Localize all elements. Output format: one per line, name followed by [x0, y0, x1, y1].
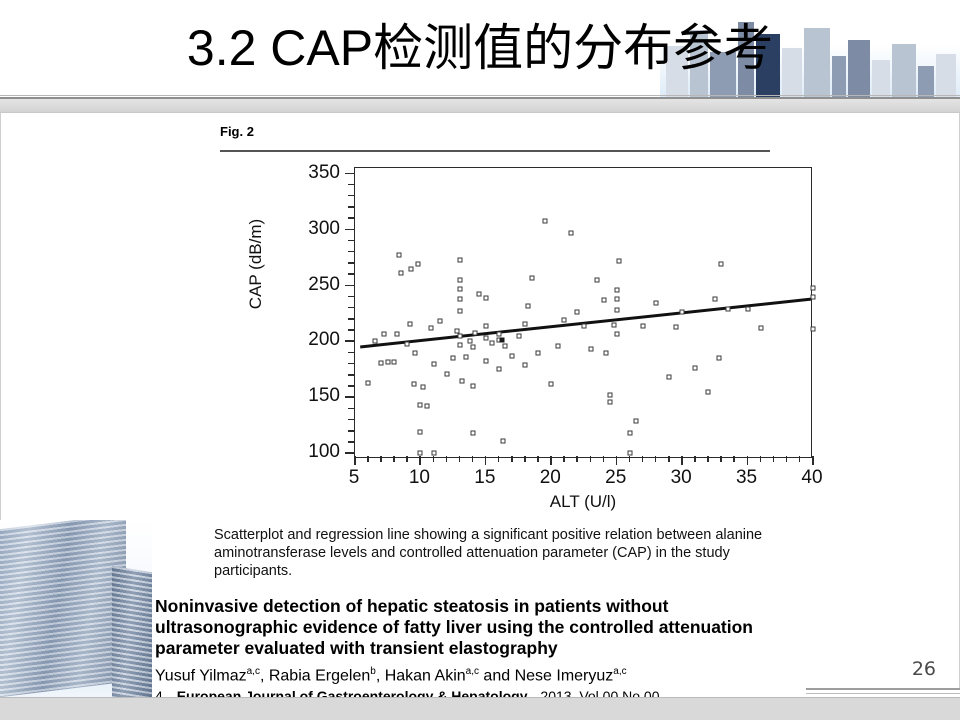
x-tick-minor — [733, 456, 735, 462]
scatter-point — [409, 266, 414, 271]
divider-band — [0, 99, 960, 113]
x-tick-label: 20 — [540, 467, 561, 489]
scatter-point — [490, 340, 495, 345]
x-tick-major — [485, 456, 487, 465]
scatter-point — [381, 331, 386, 336]
x-tick-minor — [472, 456, 474, 462]
scatter-point — [612, 322, 617, 327]
author-name: Yusuf Yilmaz — [155, 667, 247, 684]
scatter-point — [549, 382, 554, 387]
bottom-band-line — [0, 697, 960, 698]
x-tick-label: 30 — [671, 467, 692, 489]
scatter-point — [473, 330, 478, 335]
x-tick-minor — [694, 456, 696, 462]
figure-rule — [220, 150, 770, 152]
scatter-point — [608, 393, 613, 398]
y-tick-major — [345, 285, 354, 287]
scatter-point — [608, 399, 613, 404]
regression-line — [355, 168, 811, 457]
y-tick-label: 100 — [308, 441, 340, 463]
scatter-point — [582, 323, 587, 328]
scatter-point — [536, 350, 541, 355]
scatter-point — [464, 355, 469, 360]
x-tick-minor — [446, 456, 448, 462]
scatter-point — [719, 262, 724, 267]
x-tick-label: 40 — [801, 467, 822, 489]
scatter-point — [640, 323, 645, 328]
scatter-point — [614, 296, 619, 301]
scatter-point — [477, 292, 482, 297]
scatter-point — [421, 385, 426, 390]
x-tick-major — [419, 456, 421, 465]
scatter-point — [415, 262, 420, 267]
x-tick-minor — [380, 456, 382, 462]
scatter-point — [496, 367, 501, 372]
scatter-point — [457, 296, 462, 301]
x-tick-major — [616, 456, 618, 465]
scatter-point — [555, 343, 560, 348]
y-tick-label: 200 — [308, 329, 340, 351]
scatter-point — [460, 378, 465, 383]
scatter-point — [411, 382, 416, 387]
scatter-point — [529, 275, 534, 280]
x-tick-minor — [786, 456, 788, 462]
scatter-point — [457, 333, 462, 338]
scatter-point — [542, 218, 547, 223]
scatter-point — [745, 307, 750, 312]
y-tick-label: 350 — [308, 162, 340, 184]
scatter-point — [428, 326, 433, 331]
divider-line-top — [0, 95, 960, 96]
scatter-point — [614, 287, 619, 292]
x-tick-minor — [773, 456, 775, 462]
x-tick-minor — [799, 456, 801, 462]
scatter-point — [617, 258, 622, 263]
x-tick-minor — [524, 456, 526, 462]
x-tick-minor — [655, 456, 657, 462]
x-tick-minor — [537, 456, 539, 462]
slide: 3.2 CAP检测值的分布参考 Fig. 2 CAP (dB/m) 100150… — [0, 0, 960, 720]
x-tick-minor — [590, 456, 592, 462]
scatter-point — [470, 384, 475, 389]
y-tick-label: 150 — [308, 385, 340, 407]
scatter-point — [431, 361, 436, 366]
x-tick-minor — [576, 456, 578, 462]
building-sky — [0, 520, 176, 720]
x-tick-minor — [720, 456, 722, 462]
slide-number: 26 — [912, 658, 936, 680]
scatter-point — [523, 321, 528, 326]
scatter-point — [483, 358, 488, 363]
building-main-tower — [0, 520, 126, 698]
scatter-point — [706, 389, 711, 394]
footer-rule-lower — [806, 693, 960, 694]
scatter-point — [568, 230, 573, 235]
scatter-point — [604, 350, 609, 355]
scatter-point — [614, 331, 619, 336]
scatter-point — [444, 371, 449, 376]
bottom-band — [0, 697, 960, 720]
x-axis-label: ALT (U/l) — [354, 492, 812, 512]
scatter-point — [680, 310, 685, 315]
x-tick-label: 25 — [605, 467, 626, 489]
building-side-tower — [112, 566, 156, 713]
scatter-point — [667, 375, 672, 380]
building-decoration-image — [0, 520, 176, 720]
scatter-point — [595, 277, 600, 282]
scatter-point — [457, 309, 462, 314]
scatter-point — [372, 339, 377, 344]
y-axis-label: CAP (dB/m) — [246, 164, 266, 364]
y-tick-label: 250 — [308, 274, 340, 296]
scatter-point — [562, 318, 567, 323]
y-tick-major — [345, 452, 354, 454]
author-affiliation-marker: a,c — [247, 666, 260, 677]
scatter-point — [483, 323, 488, 328]
scatter-point — [379, 360, 384, 365]
scatter-point — [510, 354, 515, 359]
scatter-point — [614, 308, 619, 313]
slide-title: 3.2 CAP检测值的分布参考 — [0, 10, 960, 86]
x-axis-ticks: 510152025303540 — [354, 456, 812, 490]
x-tick-minor — [707, 456, 709, 462]
scatter-chart: CAP (dB/m) 100150200250300350 5101520253… — [214, 162, 814, 532]
article-authors: Yusuf Yilmaza,c, Rabia Ergelenb, Hakan A… — [155, 662, 805, 685]
x-tick-minor — [629, 456, 631, 462]
scatter-point — [716, 356, 721, 361]
header-divider — [0, 95, 960, 113]
x-tick-minor — [367, 456, 369, 462]
article-page: Fig. 2 CAP (dB/m) 100150200250300350 510… — [152, 118, 808, 700]
plot-area — [354, 167, 812, 458]
scatter-point — [634, 418, 639, 423]
scatter-point — [575, 310, 580, 315]
x-tick-major — [681, 456, 683, 465]
scatter-point — [418, 430, 423, 435]
author-affiliation-marker: a,c — [466, 666, 479, 677]
x-tick-major — [747, 456, 749, 465]
x-tick-minor — [603, 456, 605, 462]
x-tick-label: 35 — [736, 467, 757, 489]
scatter-point — [385, 359, 390, 364]
scatter-point — [483, 336, 488, 341]
y-tick-label: 300 — [308, 218, 340, 240]
scatter-point — [496, 331, 501, 336]
x-tick-label: 15 — [474, 467, 495, 489]
x-tick-major — [812, 456, 814, 465]
scatter-point — [405, 341, 410, 346]
scatter-point — [653, 301, 658, 306]
scatter-point — [673, 324, 678, 329]
scatter-point — [457, 277, 462, 282]
x-tick-label: 5 — [349, 467, 360, 489]
scatter-point — [438, 319, 443, 324]
scatter-point — [457, 286, 462, 291]
x-tick-minor — [459, 456, 461, 462]
y-tick-major — [345, 340, 354, 342]
figure-caption: Scatterplot and regression line showing … — [214, 526, 774, 580]
scatter-point — [483, 295, 488, 300]
author-name: Hakan Akin — [385, 667, 466, 684]
scatter-point — [500, 439, 505, 444]
scatter-point — [523, 362, 528, 367]
scatter-point — [811, 294, 816, 299]
scatter-point — [811, 285, 816, 290]
divider-line-bottom — [0, 112, 960, 113]
scatter-point-highlighted — [499, 338, 504, 343]
y-tick-major — [345, 229, 354, 231]
scatter-point — [503, 343, 508, 348]
x-tick-major — [354, 456, 356, 465]
scatter-point — [601, 298, 606, 303]
scatter-point — [525, 303, 530, 308]
scatter-point — [712, 296, 717, 301]
x-tick-minor — [642, 456, 644, 462]
scatter-point — [758, 326, 763, 331]
figure-label: Fig. 2 — [220, 124, 254, 139]
x-tick-minor — [433, 456, 435, 462]
scatter-point — [394, 331, 399, 336]
scatter-point — [398, 271, 403, 276]
x-tick-minor — [406, 456, 408, 462]
x-tick-minor — [511, 456, 513, 462]
page-edge-left — [0, 113, 1, 688]
scatter-point — [470, 345, 475, 350]
y-tick-major — [345, 396, 354, 398]
article-title: Noninvasive detection of hepatic steatos… — [155, 596, 805, 659]
y-tick-major — [345, 173, 354, 175]
scatter-point — [413, 350, 418, 355]
scatter-point — [392, 359, 397, 364]
x-tick-major — [550, 456, 552, 465]
x-tick-minor — [668, 456, 670, 462]
x-tick-minor — [563, 456, 565, 462]
footer-rule-upper — [806, 688, 960, 690]
scatter-point — [693, 366, 698, 371]
x-tick-minor — [498, 456, 500, 462]
author-affiliation-marker: b — [370, 666, 376, 677]
scatter-point — [366, 380, 371, 385]
scatter-point — [588, 347, 593, 352]
x-tick-minor — [393, 456, 395, 462]
scatter-point — [516, 333, 521, 338]
scatter-point — [418, 403, 423, 408]
scatter-point — [725, 307, 730, 312]
x-tick-minor — [760, 456, 762, 462]
author-name: Rabia Ergelen — [269, 667, 370, 684]
scatter-point — [424, 404, 429, 409]
scatter-point — [811, 327, 816, 332]
scatter-point — [397, 253, 402, 258]
scatter-point — [468, 339, 473, 344]
scatter-point — [470, 431, 475, 436]
scatter-point — [627, 431, 632, 436]
scatter-point — [457, 342, 462, 347]
author-affiliation-marker: a,c — [613, 666, 626, 677]
scatter-point — [451, 356, 456, 361]
scatter-point — [457, 257, 462, 262]
scatter-point — [407, 321, 412, 326]
author-name: Nese Imeryuz — [515, 667, 614, 684]
y-axis-ticks: 100150200250300350 — [292, 167, 354, 458]
x-tick-label: 10 — [409, 467, 430, 489]
